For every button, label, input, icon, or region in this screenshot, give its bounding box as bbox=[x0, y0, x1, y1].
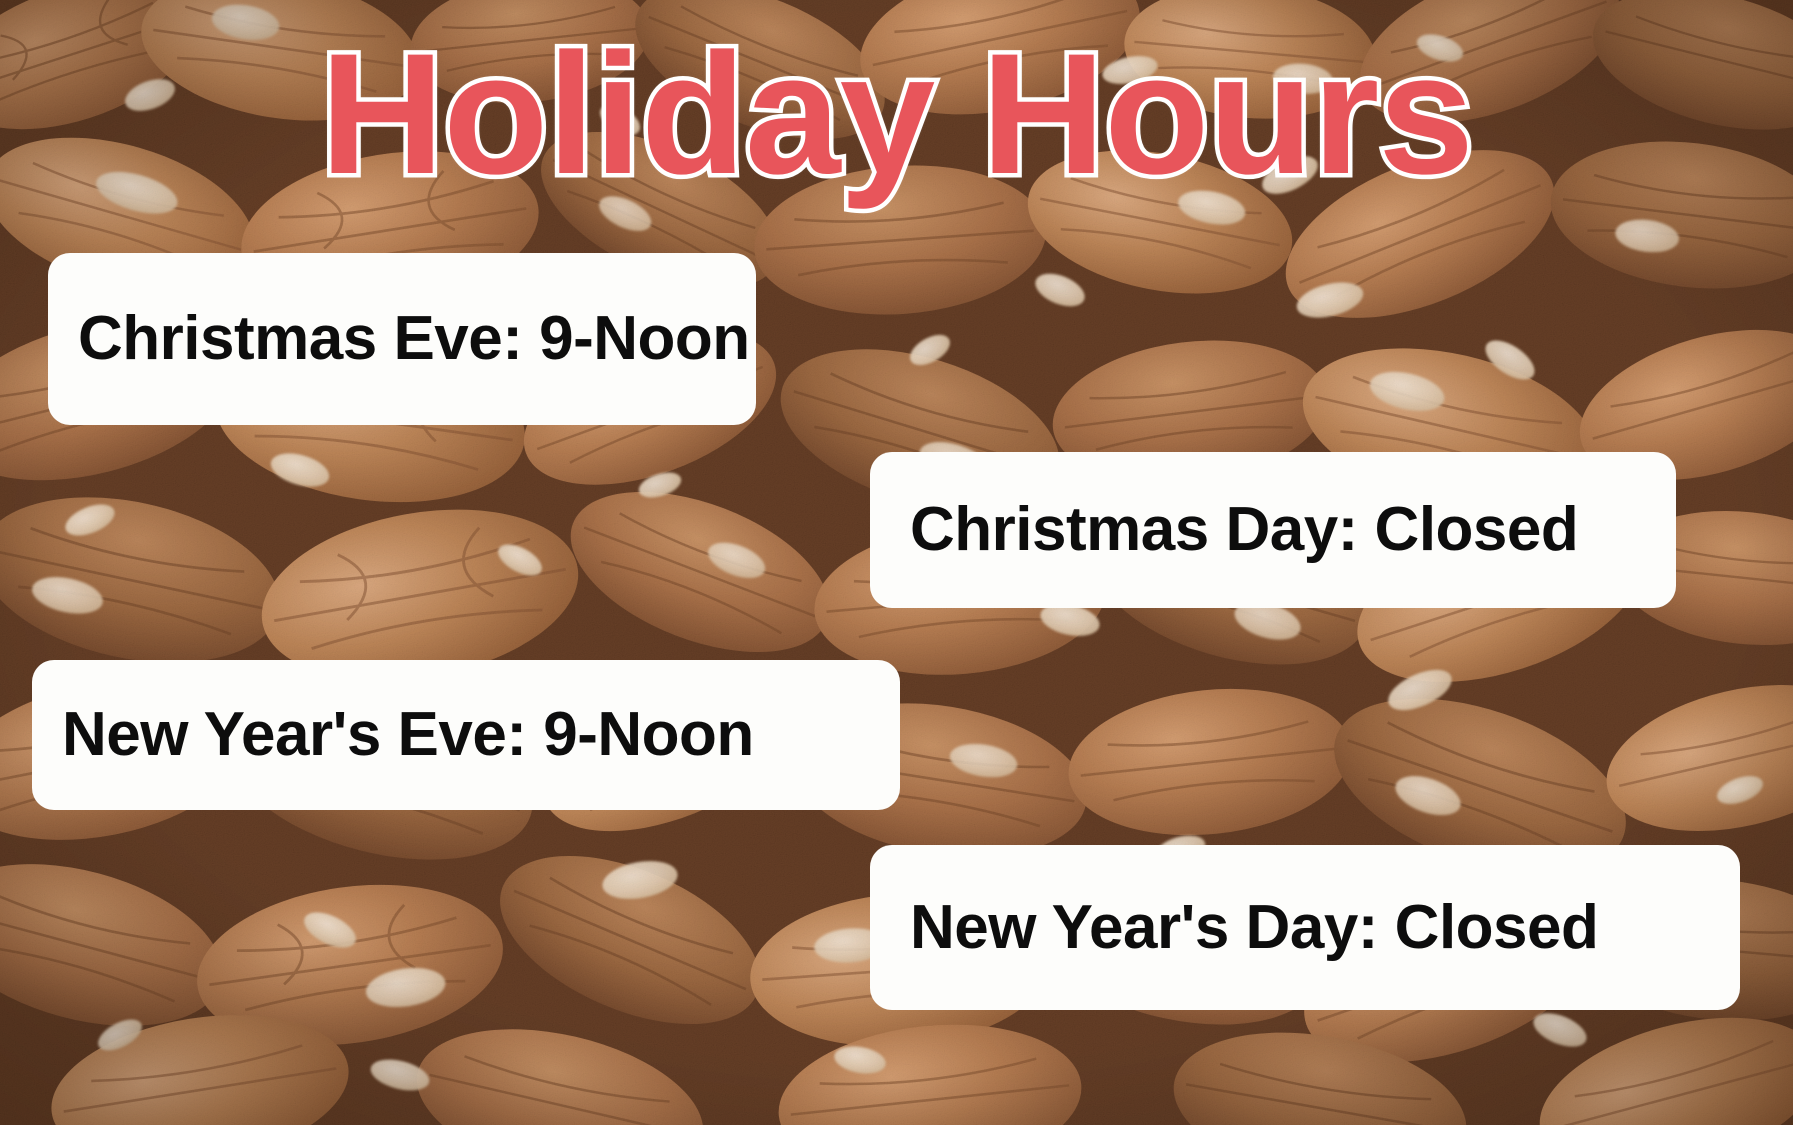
page-title: Holiday Hours bbox=[0, 28, 1793, 200]
hours-card-christmas-eve: Christmas Eve: 9-Noon bbox=[48, 253, 756, 425]
hours-label-new-years-day: New Year's Day: Closed bbox=[910, 897, 1598, 959]
hours-card-new-years-day: New Year's Day: Closed bbox=[870, 845, 1740, 1010]
hours-card-new-years-eve: New Year's Eve: 9-Noon bbox=[32, 660, 900, 810]
hours-label-christmas-day: Christmas Day: Closed bbox=[910, 499, 1578, 561]
holiday-hours-poster: Holiday Hours Christmas Eve: 9-Noon Chri… bbox=[0, 0, 1793, 1125]
hours-label-new-years-eve: New Year's Eve: 9-Noon bbox=[62, 704, 754, 766]
hours-label-christmas-eve: Christmas Eve: 9-Noon bbox=[78, 308, 750, 370]
hours-card-christmas-day: Christmas Day: Closed bbox=[870, 452, 1676, 608]
